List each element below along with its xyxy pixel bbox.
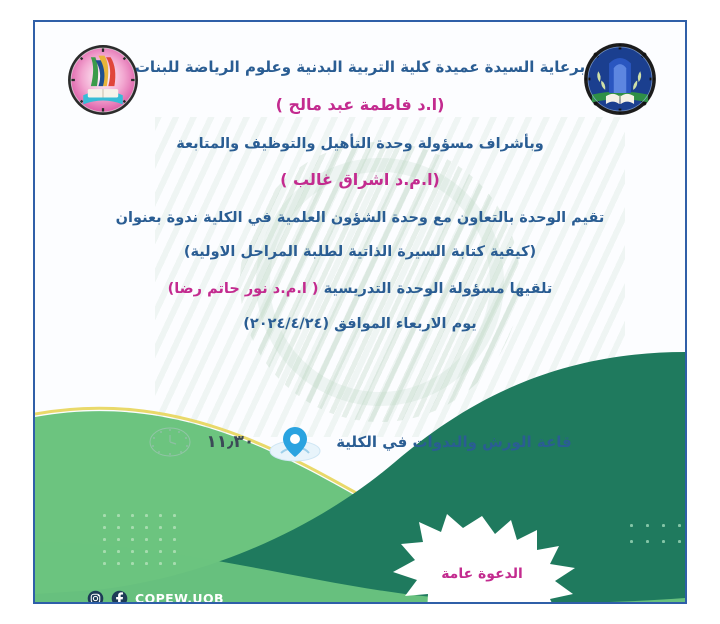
- instagram-icon[interactable]: [87, 590, 104, 604]
- supervision-line: وبأشراف مسؤولة وحدة التأهيل والتوظيف وال…: [35, 115, 685, 153]
- facebook-icon[interactable]: [111, 590, 128, 604]
- public-invitation-label: الدعوة عامة: [387, 566, 577, 582]
- dean-name: (ا.د فاطمة عبد مالح ): [35, 77, 685, 115]
- public-invitation-badge: الدعوة عامة: [387, 514, 577, 604]
- decorative-dot-grid-right: [630, 524, 687, 554]
- venue-label: قاعة الورش والندوات في الكلية: [336, 433, 571, 451]
- poster-card-frame: برعاية السيدة عميدة كلية التربية البدنية…: [33, 20, 687, 604]
- location-pin-icon: [268, 421, 322, 463]
- organizer-line: تقيم الوحدة بالتعاون مع وحدة الشؤون العل…: [35, 190, 685, 227]
- presenter-line: تلقيها مسؤولة الوحدة التدريسية ( ا.م.د ن…: [35, 261, 685, 298]
- wave-dark-green: [35, 352, 685, 602]
- social-handle: COPEW.UOB: [135, 591, 224, 604]
- poster-root: برعاية السيدة عميدة كلية التربية البدنية…: [0, 0, 720, 624]
- seminar-title: (كيفية كتابة السيرة الذاتية لطلبة المراح…: [35, 227, 685, 261]
- announcement-text-block: برعاية السيدة عميدة كلية التربية البدنية…: [35, 52, 685, 333]
- presenter-prefix: تلقيها مسؤولة الوحدة التدريسية: [324, 281, 553, 297]
- supervisor-name: (ا.م.د اشراق غالب ): [35, 153, 685, 190]
- starburst-shape: [387, 514, 577, 604]
- patronage-line: برعاية السيدة عميدة كلية التربية البدنية…: [35, 52, 685, 77]
- presenter-name: ( ا.م.د نور حاتم رضا): [168, 281, 319, 297]
- clock-icon: [148, 425, 192, 459]
- event-time: ١١٫٣٠: [206, 432, 254, 452]
- event-date: يوم الاربعاء الموافق (٢٠٢٤/٤/٢٤): [35, 298, 685, 333]
- decorative-dot-grid-left: [103, 514, 189, 570]
- venue-and-time-row: قاعة الورش والندوات في الكلية ١١٫٣٠: [35, 418, 685, 466]
- social-footer[interactable]: COPEW.UOB: [87, 590, 224, 604]
